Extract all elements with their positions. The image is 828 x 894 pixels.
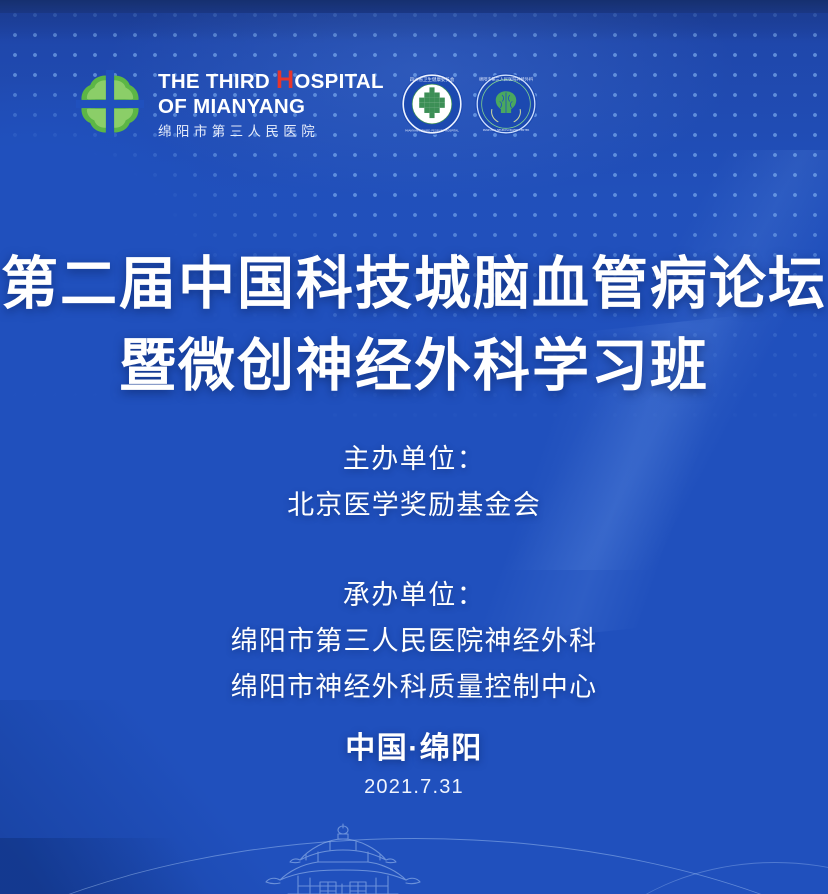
hospital-name-en-accent-h: H (276, 66, 294, 94)
green-cross-brain-logo-icon (76, 70, 144, 138)
svg-text:MIANYANG NEUROSURGERY CENTER: MIANYANG NEUROSURGERY CENTER (483, 128, 530, 132)
title-line-2: 暨微创神经外科学习班 (0, 328, 828, 404)
poster-title: 第二届中国科技城脑血管病论坛 暨微创神经外科学习班 (0, 246, 828, 404)
organizers-block: 主办单位： 北京医学奖励基金会 承办单位： 绵阳市第三人民医院神经外科 绵阳市神… (0, 436, 828, 710)
hospital-name-en-line1: THE THIRD HOSPITAL (158, 66, 384, 95)
hospital-name-en-suffix: OSPITAL (294, 70, 383, 93)
venue-place: 中国·绵阳 (0, 728, 828, 770)
venue-date: 2021.7.31 (0, 772, 828, 802)
hospital-name-en-prefix: THE THIRD (158, 70, 276, 93)
hospital-name-cn: 绵阳市第三人民医院 (158, 122, 384, 142)
circular-seal-green-brain-wheat-icon: 绵阳市第三人民医院神经外科 MIANYANG NEUROSURGERY CENT… (474, 72, 538, 136)
host-name: 北京医学奖励基金会 (0, 482, 828, 528)
hill-silhouette (0, 838, 290, 894)
venue-block: 中国·绵阳 2021.7.31 (0, 728, 828, 802)
coorganizer-name-2: 绵阳市神经外科质量控制中心 (0, 664, 828, 710)
circular-seal-green-mosaic-icon: 四川省卫生健康委员会 MIANYANG THIRD PEOPLES HOSPIT… (400, 72, 464, 136)
hospital-name-en-line2: OF MIANYANG (158, 95, 384, 120)
coorganizer-name-1: 绵阳市第三人民医院神经外科 (0, 618, 828, 664)
hospital-wordmark: THE THIRD HOSPITAL OF MIANYANG 绵阳市第三人民医院 (158, 66, 384, 142)
host-label: 主办单位： (0, 436, 828, 482)
svg-text:MIANYANG THIRD PEOPLES HOSPITA: MIANYANG THIRD PEOPLES HOSPITAL (405, 129, 459, 133)
conference-poster: THE THIRD HOSPITAL OF MIANYANG 绵阳市第三人民医院 (0, 0, 828, 894)
organizers-spacer (0, 528, 828, 572)
top-dark-band (0, 0, 828, 13)
title-line-1: 第二届中国科技城脑血管病论坛 (0, 246, 828, 322)
ground-arc-secondary (560, 862, 828, 894)
pagoda-outline-icon (258, 820, 428, 894)
coorganizer-label: 承办单位： (0, 572, 828, 618)
svg-text:绵阳市第三人民医院神经外科: 绵阳市第三人民医院神经外科 (479, 75, 533, 81)
header-logo-bar: THE THIRD HOSPITAL OF MIANYANG 绵阳市第三人民医院 (0, 58, 828, 150)
